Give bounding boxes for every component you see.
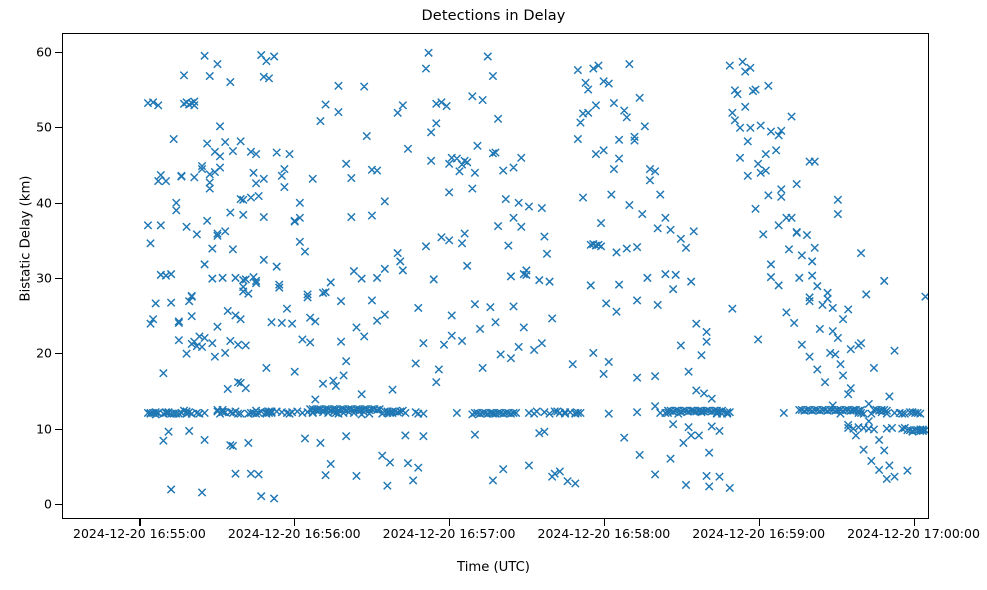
x-tick-label: 2024-12-20 16:56:00 [228, 526, 361, 541]
figure-canvas: Detections in Delay Bistatic Delay (km) … [0, 0, 987, 590]
x-tick-label: 2024-12-20 16:55:00 [73, 526, 206, 541]
scatter-series-detections [63, 34, 928, 518]
x-tick-label: 2024-12-20 16:57:00 [383, 526, 516, 541]
x-tick-mark [294, 519, 295, 526]
plot-area [62, 33, 929, 519]
x-tick-mark [914, 519, 915, 526]
y-tick-mark [55, 278, 62, 279]
x-tick-label: 2024-12-20 17:00:00 [847, 526, 980, 541]
x-tick-label: 2024-12-20 16:58:00 [537, 526, 670, 541]
y-tick-mark [55, 52, 62, 53]
chart-title: Detections in Delay [0, 8, 987, 24]
y-tick-mark [55, 504, 62, 505]
x-tick-mark [139, 519, 140, 526]
y-tick-mark [55, 429, 62, 430]
y-tick-mark [55, 353, 62, 354]
y-tick-mark [55, 127, 62, 128]
x-tick-mark [449, 519, 450, 526]
x-tick-mark [759, 519, 760, 526]
x-tick-label: 2024-12-20 16:59:00 [692, 526, 825, 541]
y-axis-tick-marks [0, 33, 62, 519]
y-tick-mark [55, 203, 62, 204]
x-axis-label: Time (UTC) [0, 560, 987, 575]
x-tick-mark [604, 519, 605, 526]
x-axis-tick-labels: 2024-12-20 16:55:002024-12-20 16:56:0020… [0, 523, 987, 547]
